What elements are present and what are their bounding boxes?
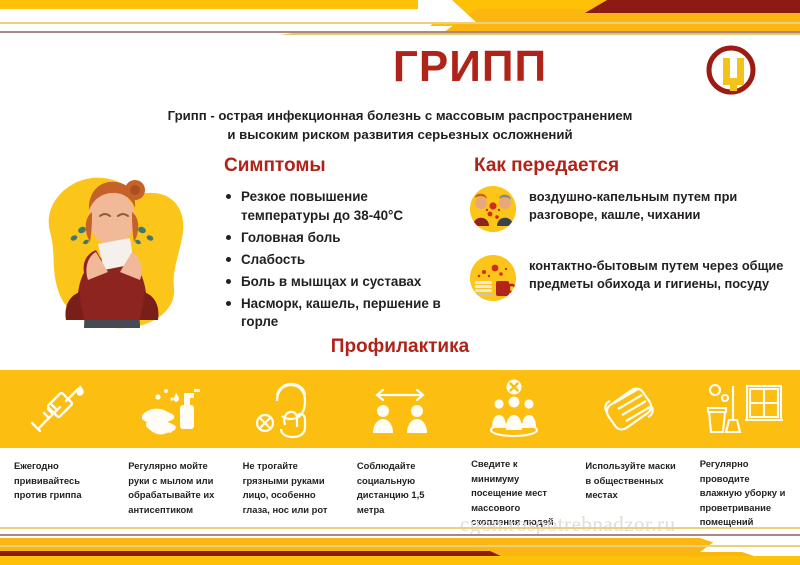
transmission-item-label: воздушно-капельным путем при разговоре, … — [529, 186, 800, 224]
prevention-item-caption: Не трогайте грязными руками лицо, особен… — [229, 459, 343, 517]
no-touch-face-icon — [251, 370, 321, 448]
prevention-item-caption: Регулярно проводите влажную уборку и про… — [686, 457, 800, 530]
top-thin-line-mauve — [0, 31, 800, 33]
influenza-infographic-poster: ГРИПП Грипп - острая инфекционная болезн… — [0, 0, 800, 565]
rospotrebnadzor-logo-icon — [705, 44, 757, 96]
top-thin-line-yellow2 — [280, 33, 800, 35]
list-item: воздушно-капельным путем при разговоре, … — [470, 186, 800, 232]
woman-sneezing-illustration — [22, 160, 202, 335]
symptoms-heading: Симптомы — [224, 155, 326, 177]
bottom-thin-line-yellow — [0, 527, 800, 529]
list-item: Регулярно мойте руки с мылом или обрабат… — [114, 370, 228, 530]
dishes-mug-droplets-icon — [470, 255, 516, 301]
page-subtitle: Грипп - острая инфекционная болезнь с ма… — [165, 106, 635, 144]
list-item: Регулярно проводите влажную уборку и про… — [686, 370, 800, 530]
list-item: Боль в мышцах и суставах — [224, 273, 459, 292]
prevention-item-caption: Соблюдайте социальную дистанцию 1,5 метр… — [343, 459, 457, 517]
prevention-item-caption: Используйте маски в общественных местах — [571, 459, 685, 503]
list-item: контактно-бытовым путем через общие пред… — [470, 255, 800, 301]
list-item: Резкое повышение температуры до 38-40°С — [224, 188, 459, 225]
transmission-heading: Как передается — [474, 155, 619, 177]
list-item: Используйте маски в общественных местах — [571, 370, 685, 530]
bottom-thin-line-yellow2 — [0, 545, 800, 547]
top-darkred-wedge — [585, 0, 800, 13]
social-distance-icon — [365, 370, 435, 448]
list-item: Головная боль — [224, 229, 459, 248]
transmission-item-label: контактно-бытовым путем через общие пред… — [529, 255, 800, 293]
prevention-items: Ежегодно прививайтесь против гриппа — [0, 370, 800, 530]
prevention-item-caption: Регулярно мойте руки с мылом или обрабат… — [114, 459, 228, 517]
prevention-item-caption: Ежегодно прививайтесь против гриппа — [0, 459, 114, 503]
list-item: Насморк, кашель, першение в горле — [224, 295, 459, 332]
bottom-yellow-bar — [0, 556, 800, 565]
face-mask-icon — [594, 370, 664, 448]
list-item: Сведите к минимуму посещение мест массов… — [457, 370, 571, 530]
list-item: Слабость — [224, 251, 459, 270]
prevention-heading: Профилактика — [300, 336, 500, 358]
list-item: Не трогайте грязными руками лицо, особен… — [229, 370, 343, 530]
syringe-icon — [22, 370, 92, 448]
subtitle-line-1: Грипп - острая инфекционная болезнь с ма… — [165, 106, 635, 125]
two-people-droplets-icon — [470, 186, 516, 232]
list-item: Ежегодно прививайтесь против гриппа — [0, 370, 114, 530]
cleaning-airing-icon — [703, 370, 783, 446]
symptoms-list: Резкое повышение температуры до 38-40°С … — [224, 188, 459, 335]
bottom-white-wedge — [700, 536, 800, 552]
subtitle-line-2: и высоким риском развития серьезных осло… — [165, 125, 635, 144]
handwash-soap-icon — [136, 370, 206, 448]
top-thin-line-yellow — [0, 22, 800, 24]
page-title: ГРИПП — [300, 45, 640, 89]
no-crowd-icon — [479, 370, 549, 446]
list-item: Соблюдайте социальную дистанцию 1,5 метр… — [343, 370, 457, 530]
bottom-thin-line-mauve — [0, 534, 800, 536]
